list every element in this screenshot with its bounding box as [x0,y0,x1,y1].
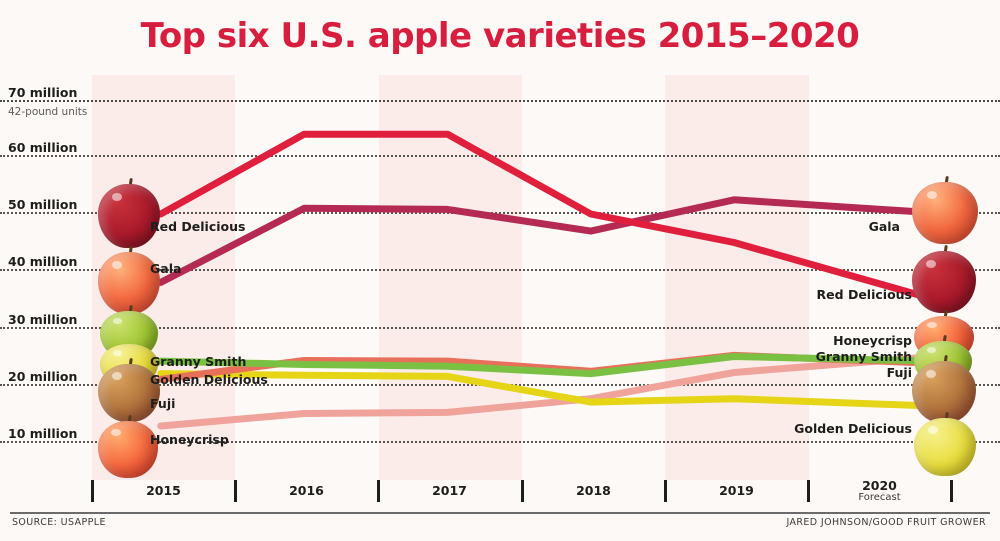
y-tick-label-40: 40 million [8,254,80,269]
series-label-right-honeycrisp: Honeycrisp [833,333,912,348]
series-label-right-fuji: Fuji [887,365,912,380]
y-unit-note: 42-pound units [8,106,87,118]
line-red-delicious [161,134,935,299]
apple-varieties-chart: Top six U.S. apple varieties 2015–2020 7… [0,0,1000,541]
x-label-2015: 2015 [92,483,235,498]
series-label-left-golden-delicious: Golden Delicious [150,372,268,387]
apple-icon-red-delicious [98,178,160,252]
y-tick-label-70: 70 million [8,85,80,100]
series-label-left-fuji: Fuji [150,396,175,411]
series-label-left-red-delicious: Red Delicious [150,219,245,234]
source-credit: SOURCE: USAPPLE [12,517,106,528]
x-sublabel-forecast: Forecast [808,492,951,503]
series-label-right-red-delicious: Red Delicious [817,287,912,302]
series-label-right-gala: Gala [869,219,900,234]
footer-divider [10,512,990,514]
series-label-left-gala: Gala [150,261,181,276]
apple-icon-red-delicious-right [912,245,976,317]
series-label-right-granny-smith: Granny Smith [816,349,912,364]
series-label-left-granny-smith: Granny Smith [150,354,246,369]
y-tick-label-20: 20 million [8,369,80,384]
x-axis: 2015 2016 2017 2018 2019 2020 Forecast [0,480,1000,512]
x-label-2020: 2020 [808,478,951,493]
x-label-2019: 2019 [665,483,808,498]
y-tick-label-60: 60 million [8,140,80,155]
author-credit: JARED JOHNSON/GOOD FRUIT GROWER [786,517,986,528]
y-tick-label-50: 50 million [8,197,80,212]
y-tick-label-10: 10 million [8,426,80,441]
series-label-right-golden-delicious: Golden Delicious [794,421,912,436]
apple-icon-golden-delicious-right [914,412,976,480]
apple-icon-gala-right [912,176,978,248]
apple-icon-honeycrisp [98,415,158,481]
x-label-2018: 2018 [522,483,665,498]
y-tick-label-30: 30 million [8,312,80,327]
x-label-2016: 2016 [235,483,378,498]
x-label-2017: 2017 [378,483,521,498]
series-label-left-honeycrisp: Honeycrisp [150,432,229,447]
page-title: Top six U.S. apple varieties 2015–2020 [0,16,1000,56]
